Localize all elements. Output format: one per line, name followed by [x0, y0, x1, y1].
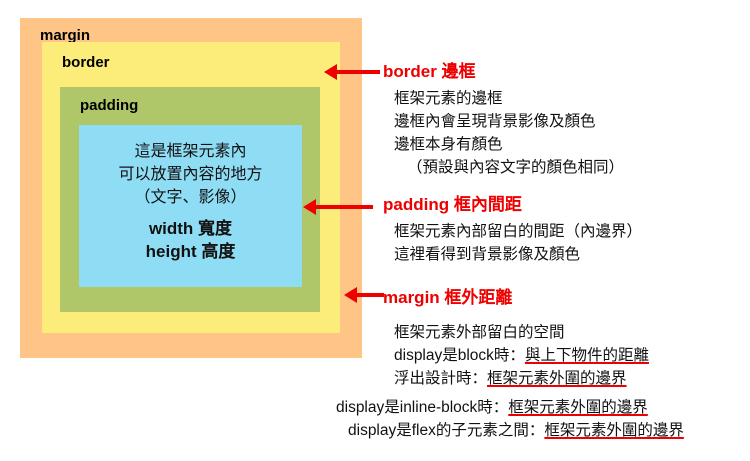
bottom-note-line: display是inline-block時：框架元素外圍的邊界	[336, 396, 750, 419]
annotation-line-emphasis: 框架元素外圍的邊界	[487, 370, 627, 387]
padding-box-label: padding	[80, 97, 138, 114]
content-height-label: height 高度	[146, 240, 236, 264]
arrow-left-icon-margin	[356, 293, 384, 297]
annotation-panel: border 邊框 框架元素的邊框 邊框內會呈現背景影像及顏色 邊框本身有顏色 …	[383, 0, 750, 461]
annotation-line-emphasis: 與上下物件的距離	[525, 347, 649, 364]
annotation-section-padding: padding 框內間距 框架元素內部留白的間距（內邊界） 這裡看得到背景影像及…	[383, 190, 642, 267]
bottom-note-line: display是flex的子元素之間：框架元素外圍的邊界	[336, 419, 750, 442]
bottom-note-emphasis: 框架元素外圍的邊界	[508, 399, 648, 416]
border-box: border padding 這是框架元素內 可以放置內容的地方 （文字、影像）…	[42, 42, 340, 333]
border-box-label: border	[62, 54, 110, 71]
annotation-line-underlined: display是block時：與上下物件的距離	[394, 345, 649, 368]
annotation-body-border: 框架元素的邊框 邊框內會呈現背景影像及顏色 邊框本身有顏色 （預設與內容文字的顏…	[383, 88, 624, 180]
annotation-heading-margin: margin 框外距離	[383, 283, 649, 308]
annotation-line: 框架元素的邊框	[394, 88, 624, 111]
bottom-notes: display是inline-block時：框架元素外圍的邊界 display是…	[336, 396, 750, 443]
annotation-body-padding: 框架元素內部留白的間距（內邊界） 這裡看得到背景影像及顏色	[383, 221, 642, 267]
annotation-line: 框架元素外部留白的空間	[394, 322, 649, 345]
annotation-heading-padding: padding 框內間距	[383, 190, 642, 215]
annotation-line: 邊框內會呈現背景影像及顏色	[394, 111, 624, 134]
annotation-line-underlined: 浮出設計時：框架元素外圍的邊界	[394, 368, 649, 391]
box-model-diagram: margin border padding 這是框架元素內 可以放置內容的地方 …	[0, 0, 380, 380]
annotation-line: （預設與內容文字的顏色相同）	[394, 157, 624, 180]
annotation-line-prefix: 浮出設計時：	[394, 370, 487, 387]
padding-box: padding 這是框架元素內 可以放置內容的地方 （文字、影像） width …	[60, 87, 320, 312]
annotation-heading-border: border 邊框	[383, 57, 624, 82]
annotation-line: 這裡看得到背景影像及顏色	[394, 244, 642, 267]
bottom-note-prefix: display是flex的子元素之間：	[348, 422, 544, 439]
margin-box: margin border padding 這是框架元素內 可以放置內容的地方 …	[20, 18, 362, 358]
annotation-body-margin: 框架元素外部留白的空間 display是block時：與上下物件的距離 浮出設計…	[383, 314, 649, 391]
content-text-line: 這是框架元素內	[134, 140, 246, 163]
arrow-left-icon-padding	[315, 205, 373, 209]
annotation-section-margin: margin 框外距離 框架元素外部留白的空間 display是block時：與…	[383, 283, 649, 391]
arrow-left-icon-border	[336, 70, 380, 74]
content-width-label: width 寬度	[149, 217, 232, 241]
bottom-note-emphasis: 框架元素外圍的邊界	[544, 422, 684, 439]
content-box: 這是框架元素內 可以放置內容的地方 （文字、影像） width 寬度 heigh…	[79, 125, 302, 287]
annotation-line-prefix: display是block時：	[394, 347, 525, 364]
annotation-line: 邊框本身有顏色	[394, 134, 624, 157]
content-text-line: 可以放置內容的地方	[118, 163, 262, 186]
annotation-line: 框架元素內部留白的間距（內邊界）	[394, 221, 642, 244]
content-text-line: （文字、影像）	[134, 186, 246, 209]
bottom-note-prefix: display是inline-block時：	[336, 399, 508, 416]
annotation-section-border: border 邊框 框架元素的邊框 邊框內會呈現背景影像及顏色 邊框本身有顏色 …	[383, 57, 624, 180]
